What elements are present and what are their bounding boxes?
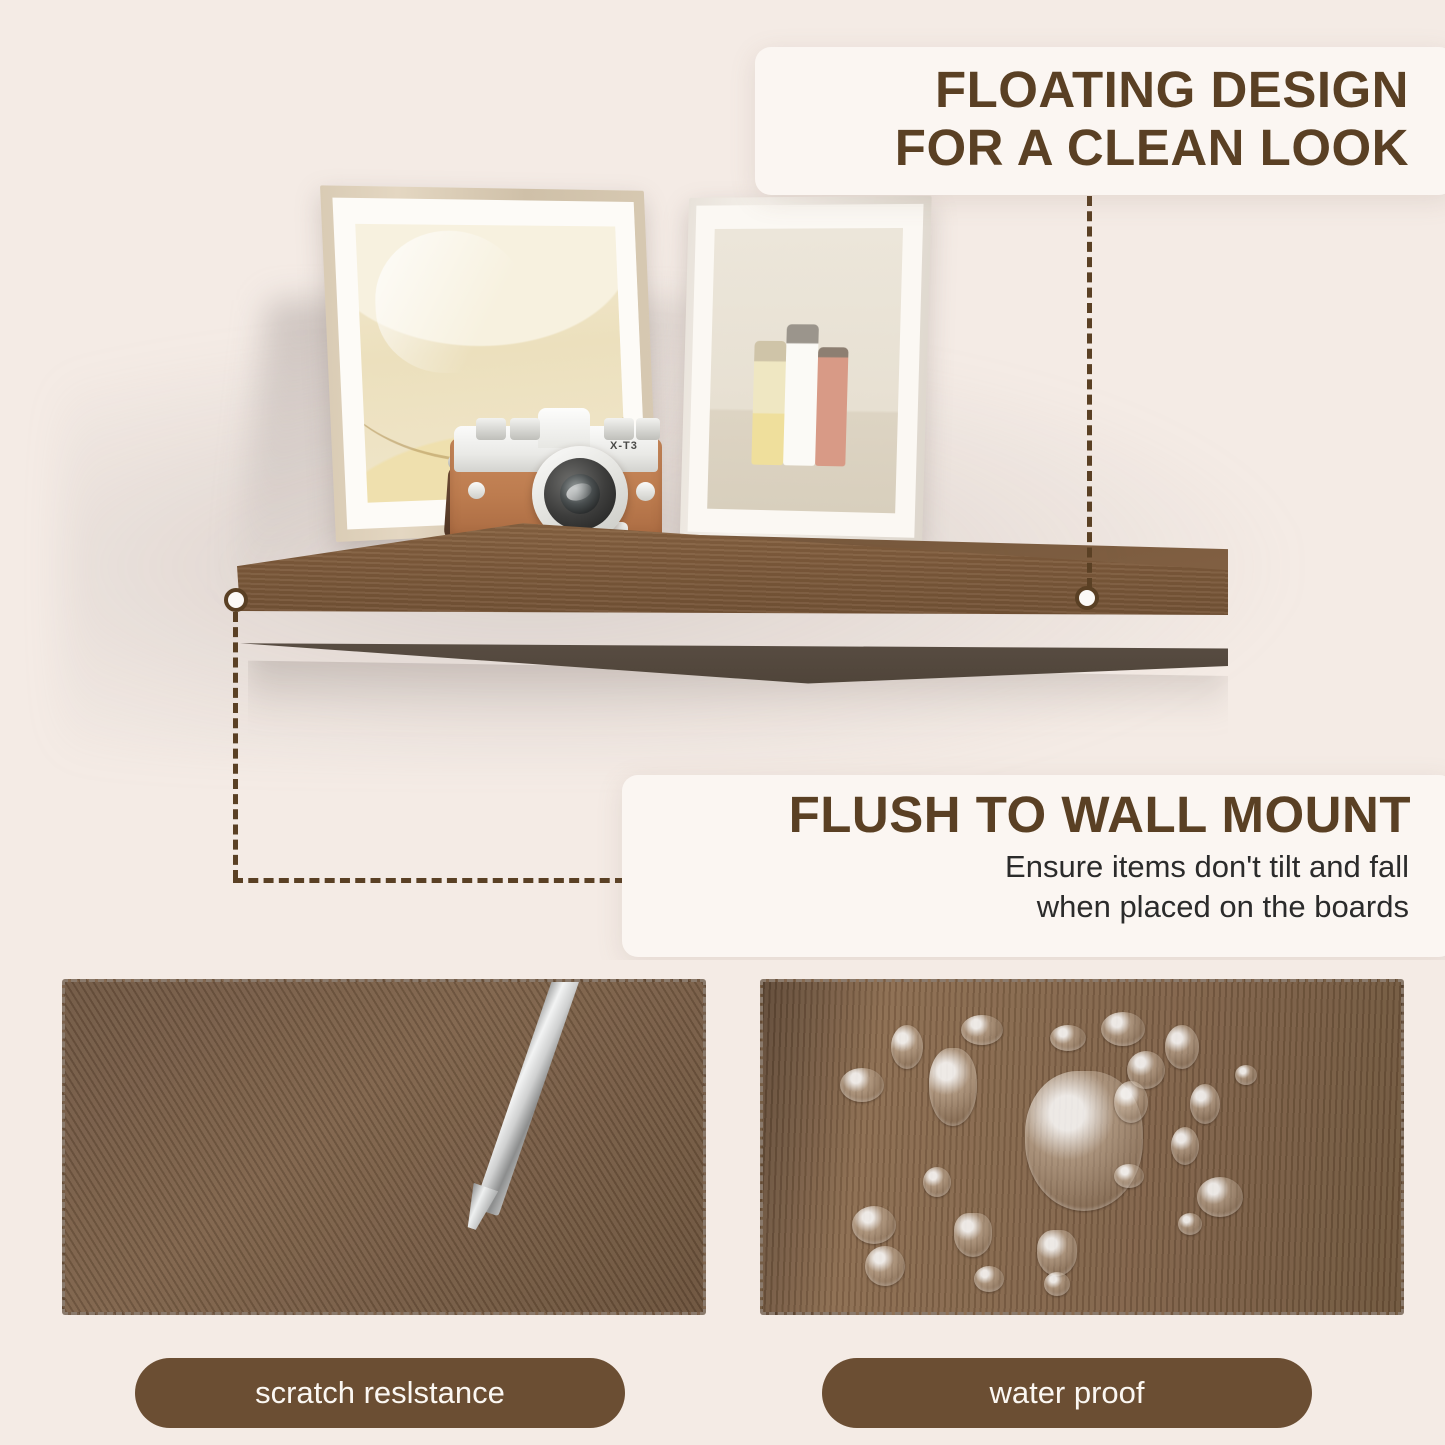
camera-model-label: X-T3	[610, 440, 638, 452]
water-droplet	[865, 1246, 905, 1286]
lens-highlight	[564, 480, 594, 503]
callout-subtitle-line-1: Ensure items don't tilt and fall	[646, 847, 1409, 887]
callout-title-flush-mount: FLUSH TO WALL MOUNT	[622, 775, 1445, 843]
water-droplet	[1044, 1272, 1070, 1296]
water-droplet	[852, 1206, 896, 1244]
camera-prism	[538, 408, 590, 448]
water-droplet	[1037, 1230, 1077, 1276]
water-droplet	[929, 1048, 977, 1126]
water-droplet	[1235, 1065, 1257, 1085]
screwdriver-shaft	[474, 979, 580, 1216]
water-droplet	[891, 1025, 923, 1069]
callout-floating-design: FLOATING DESIGN FOR A CLEAN LOOK	[755, 47, 1445, 195]
water-droplet	[1114, 1164, 1144, 1188]
product-scene: X-T3 FLOATING DESIGN FOR A CLEAN LOOK FL…	[0, 0, 1445, 960]
callout-title-line-2: FOR A CLEAN LOOK	[779, 119, 1409, 177]
bottle-white	[783, 325, 819, 467]
callout-connector-line-right	[1087, 196, 1092, 588]
camera-dial	[510, 418, 540, 440]
shelf-front-face	[228, 512, 1228, 644]
callout-connector-line-left-horizontal	[233, 878, 625, 883]
water-droplet	[1178, 1213, 1202, 1235]
callout-title-floating-design: FLOATING DESIGN FOR A CLEAN LOOK	[755, 47, 1445, 177]
camera-button	[468, 482, 485, 499]
label-water-proof: water proof	[822, 1358, 1312, 1428]
water-droplet	[961, 1015, 1003, 1045]
artwork-still-life-bottles	[707, 228, 903, 513]
callout-connector-line-left-vertical	[233, 612, 238, 880]
camera-dial	[636, 418, 660, 440]
callout-dot-left	[224, 588, 248, 612]
camera-button	[636, 482, 655, 501]
camera-dial	[476, 418, 506, 440]
callout-subtitle-flush-mount: Ensure items don't tilt and fall when pl…	[622, 843, 1445, 927]
callout-flush-mount: FLUSH TO WALL MOUNT Ensure items don't t…	[622, 775, 1445, 957]
frame-mat-right	[688, 204, 924, 538]
label-water-proof-text: water proof	[989, 1375, 1144, 1411]
detail-photo-scratch	[62, 979, 706, 1315]
lens-glass	[560, 474, 600, 514]
camera-dial	[604, 418, 634, 440]
callout-dot-right	[1075, 586, 1099, 610]
label-scratch-resistance-text: scratch reslstance	[255, 1375, 505, 1411]
callout-title-line-1: FLOATING DESIGN	[779, 61, 1409, 119]
infographic-canvas: X-T3 FLOATING DESIGN FOR A CLEAN LOOK FL…	[0, 0, 1445, 1445]
water-droplet	[954, 1213, 992, 1257]
water-droplet	[1171, 1127, 1199, 1165]
picture-frame-right	[680, 196, 932, 546]
detail-photo-waterproof	[760, 979, 1404, 1315]
water-droplet	[923, 1167, 951, 1197]
water-droplet	[840, 1068, 884, 1102]
callout-subtitle-line-2: when placed on the boards	[646, 887, 1409, 927]
water-droplet	[1114, 1081, 1148, 1123]
water-droplet	[1101, 1012, 1145, 1046]
bottle-yellow	[751, 341, 786, 465]
water-droplet	[974, 1266, 1004, 1292]
label-scratch-resistance: scratch reslstance	[135, 1358, 625, 1428]
water-droplet	[1050, 1025, 1086, 1051]
water-droplet	[1197, 1177, 1243, 1217]
water-droplet	[1165, 1025, 1199, 1069]
water-droplet	[1190, 1084, 1220, 1124]
bottle-terracotta	[815, 347, 849, 466]
